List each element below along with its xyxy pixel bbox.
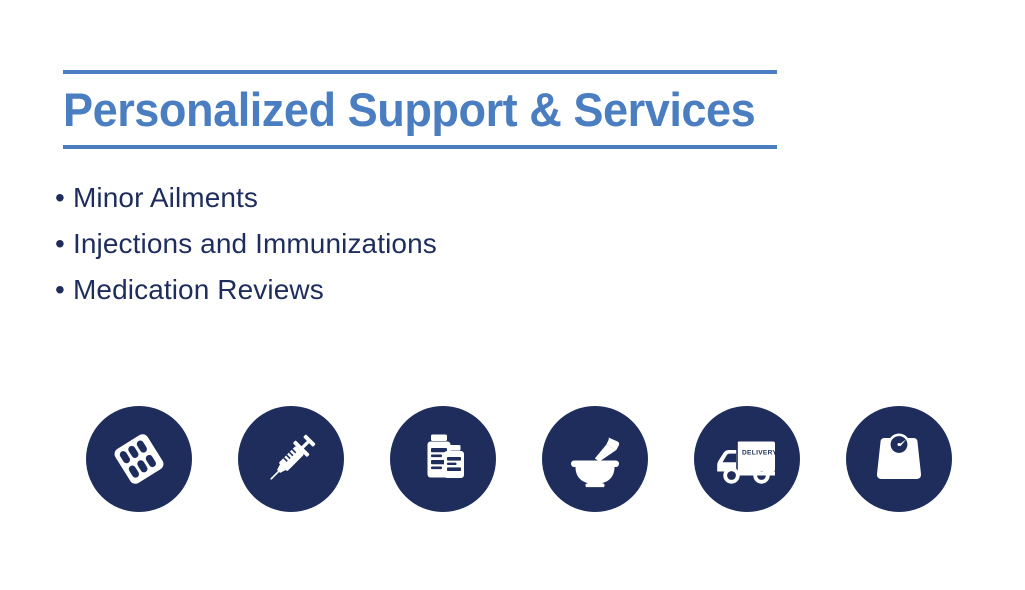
icon-badge-delivery-truck: DELIVERY <box>694 406 800 512</box>
icon-badge-blister-pack <box>86 406 192 512</box>
page-title: Personalized Support & Services <box>63 74 748 145</box>
blister-pack-icon <box>108 428 170 490</box>
list-item: • Minor Ailments <box>55 182 437 228</box>
bullet-label: Medication Reviews <box>73 274 324 306</box>
bullet-dot-icon: • <box>55 230 73 258</box>
icon-badge-syringe <box>238 406 344 512</box>
title-rule-bottom <box>63 145 777 149</box>
icon-badge-pill-bottles <box>390 406 496 512</box>
truck-delivery-label: DELIVERY <box>742 450 777 457</box>
icon-badge-mortar-pestle <box>542 406 648 512</box>
pill-bottles-icon <box>412 428 474 490</box>
slide-canvas: Personalized Support & Services • Minor … <box>0 0 1025 590</box>
weight-scale-icon <box>868 428 930 490</box>
syringe-icon <box>260 428 322 490</box>
bullet-label: Minor Ailments <box>73 182 258 214</box>
bullet-dot-icon: • <box>55 184 73 212</box>
title-block: Personalized Support & Services <box>63 70 777 149</box>
services-bullet-list: • Minor Ailments • Injections and Immuni… <box>55 182 437 320</box>
bullet-label: Injections and Immunizations <box>73 228 437 260</box>
bullet-dot-icon: • <box>55 276 73 304</box>
mortar-pestle-icon <box>564 428 626 490</box>
delivery-truck-icon: DELIVERY <box>714 428 780 490</box>
service-icon-row: DELIVERY <box>86 406 952 512</box>
list-item: • Medication Reviews <box>55 274 437 320</box>
list-item: • Injections and Immunizations <box>55 228 437 274</box>
icon-badge-weight-scale <box>846 406 952 512</box>
